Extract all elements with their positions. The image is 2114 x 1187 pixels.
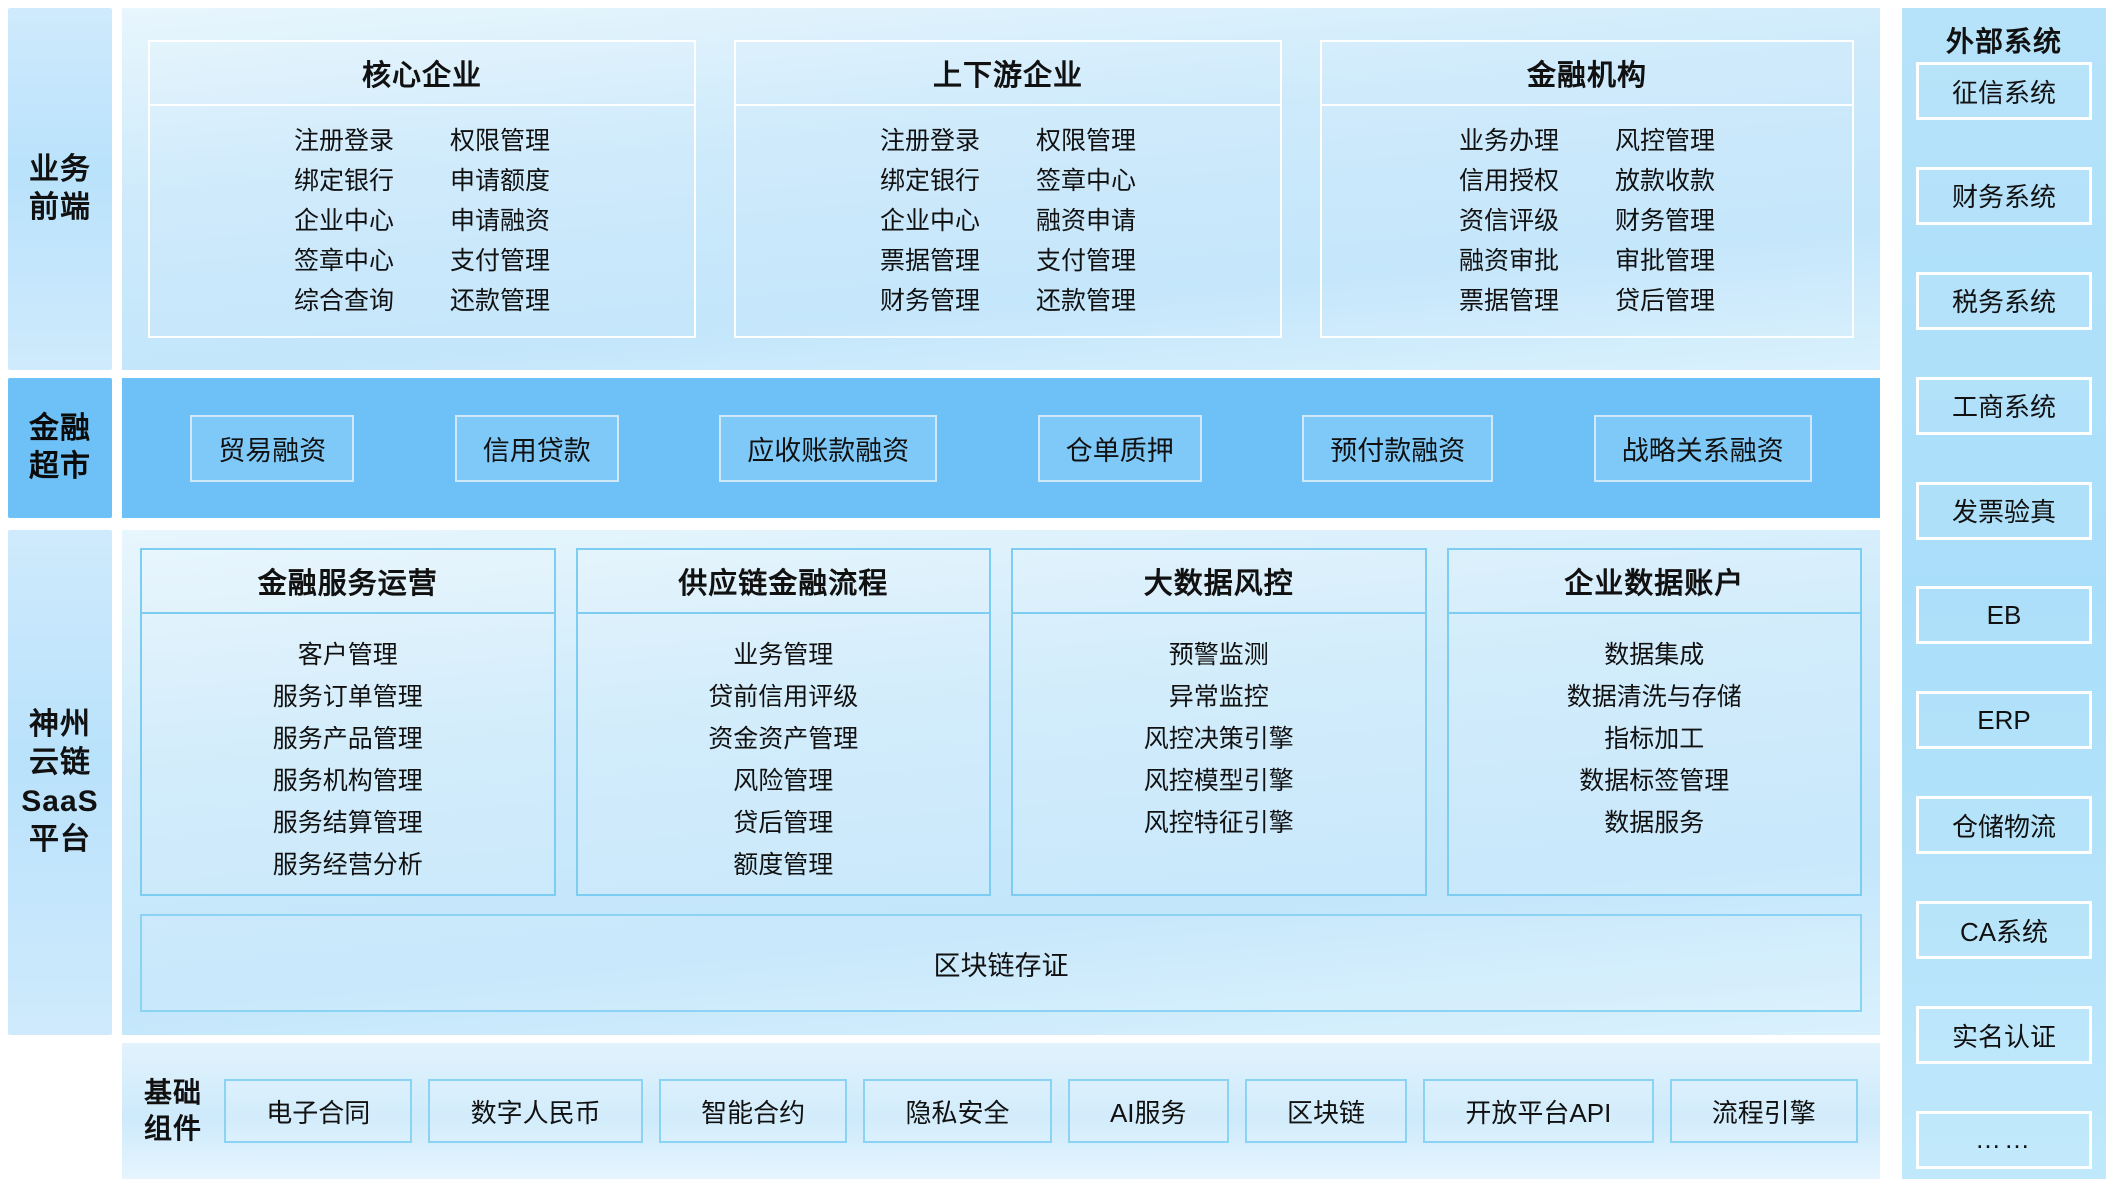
module-item: 服务经营分析 xyxy=(273,846,423,885)
card-column-right: 风控管理 放款收款 财务管理 审批管理 贷后管理 xyxy=(1615,122,1715,320)
feature-item: 签章中心 xyxy=(294,242,394,280)
card-column-left: 业务办理 信用授权 资信评级 融资审批 票据管理 xyxy=(1459,122,1559,320)
external-systems-title: 外部系统 xyxy=(1902,20,2106,60)
base-component-blockchain[interactable]: 区块链 xyxy=(1245,1079,1407,1143)
feature-item: 财务管理 xyxy=(880,282,980,320)
base-component-smart-contract[interactable]: 智能合约 xyxy=(659,1079,847,1143)
card-column-right: 权限管理 签章中心 融资申请 支付管理 还款管理 xyxy=(1036,122,1136,320)
module-title: 金融服务运营 xyxy=(142,550,554,614)
business-front-panel: 核心企业 注册登录 绑定银行 企业中心 签章中心 综合查询 权限管理 申请额度 … xyxy=(122,8,1880,370)
feature-item: 财务管理 xyxy=(1615,202,1715,240)
layer-label-base-components: 基础 组件 xyxy=(144,1075,202,1147)
module-item: 数据清洗与存储 xyxy=(1567,678,1742,717)
module-item: 数据集成 xyxy=(1604,636,1704,675)
feature-item: 权限管理 xyxy=(450,122,550,160)
feature-item: 签章中心 xyxy=(1036,162,1136,200)
external-system-more[interactable]: …… xyxy=(1916,1111,2092,1169)
feature-item: 还款管理 xyxy=(1036,282,1136,320)
feature-item: 信用授权 xyxy=(1459,162,1559,200)
business-front-card-upstream-downstream: 上下游企业 注册登录 绑定银行 企业中心 票据管理 财务管理 权限管理 签章中心… xyxy=(734,40,1282,338)
finance-product-receivables-financing[interactable]: 应收账款融资 xyxy=(719,415,937,482)
business-front-card-financial-institution: 金融机构 业务办理 信用授权 资信评级 融资审批 票据管理 风控管理 放款收款 … xyxy=(1320,40,1854,338)
architecture-diagram: 业务 前端 金融 超市 神州 云链 SaaS 平台 核心企业 注册登录 绑定银行… xyxy=(0,0,2114,1187)
base-component-privacy-security[interactable]: 隐私安全 xyxy=(863,1079,1051,1143)
layer-label-finance-mall: 金融 超市 xyxy=(8,378,112,518)
base-components-panel: 基础 组件 电子合同 数字人民币 智能合约 隐私安全 AI服务 区块链 开放平台… xyxy=(122,1043,1880,1179)
card-title: 上下游企业 xyxy=(736,42,1280,106)
feature-item: 注册登录 xyxy=(294,122,394,160)
external-system-credit-reporting[interactable]: 征信系统 xyxy=(1916,62,2092,120)
module-item: 异常监控 xyxy=(1169,678,1269,717)
card-columns: 业务办理 信用授权 资信评级 融资审批 票据管理 风控管理 放款收款 财务管理 … xyxy=(1322,106,1852,320)
external-system-ca[interactable]: CA系统 xyxy=(1916,901,2092,959)
external-systems-list: 征信系统 财务系统 税务系统 工商系统 发票验真 EB ERP 仓储物流 CA系… xyxy=(1916,62,2092,1169)
finance-mall-panel: 贸易融资 信用贷款 应收账款融资 仓单质押 预付款融资 战略关系融资 xyxy=(122,378,1880,518)
external-system-warehouse-logistics[interactable]: 仓储物流 xyxy=(1916,796,2092,854)
module-item: 风险管理 xyxy=(733,762,833,801)
feature-item: 放款收款 xyxy=(1615,162,1715,200)
module-title: 企业数据账户 xyxy=(1449,550,1861,614)
feature-item: 绑定银行 xyxy=(294,162,394,200)
feature-item: 支付管理 xyxy=(1036,242,1136,280)
module-item: 服务机构管理 xyxy=(273,762,423,801)
module-item: 资金资产管理 xyxy=(708,720,858,759)
module-item: 服务结算管理 xyxy=(273,804,423,843)
external-system-invoice-verification[interactable]: 发票验真 xyxy=(1916,482,2092,540)
finance-mall-chip-row: 贸易融资 信用贷款 应收账款融资 仓单质押 预付款融资 战略关系融资 xyxy=(122,378,1880,518)
finance-product-trade-financing[interactable]: 贸易融资 xyxy=(190,415,354,482)
feature-item: 企业中心 xyxy=(880,202,980,240)
module-title: 大数据风控 xyxy=(1013,550,1425,614)
feature-item: 支付管理 xyxy=(450,242,550,280)
base-component-digital-rmb[interactable]: 数字人民币 xyxy=(428,1079,642,1143)
module-title: 供应链金融流程 xyxy=(578,550,990,614)
business-front-card-core-enterprise: 核心企业 注册登录 绑定银行 企业中心 签章中心 综合查询 权限管理 申请额度 … xyxy=(148,40,696,338)
card-column-left: 注册登录 绑定银行 企业中心 签章中心 综合查询 xyxy=(294,122,394,320)
finance-product-warehouse-receipt-pledge[interactable]: 仓单质押 xyxy=(1038,415,1202,482)
module-items: 预警监测 异常监控 风控决策引擎 风控模型引擎 风控特征引擎 xyxy=(1013,614,1425,894)
feature-item: 融资申请 xyxy=(1036,202,1136,240)
feature-item: 融资审批 xyxy=(1459,242,1559,280)
card-column-left: 注册登录 绑定银行 企业中心 票据管理 财务管理 xyxy=(880,122,980,320)
feature-item: 绑定银行 xyxy=(880,162,980,200)
external-system-erp[interactable]: ERP xyxy=(1916,691,2092,749)
module-item: 风控模型引擎 xyxy=(1144,762,1294,801)
external-system-real-name-auth[interactable]: 实名认证 xyxy=(1916,1006,2092,1064)
module-item: 服务产品管理 xyxy=(273,720,423,759)
module-items: 业务管理 贷前信用评级 资金资产管理 风险管理 贷后管理 额度管理 xyxy=(578,614,990,894)
base-component-open-platform-api[interactable]: 开放平台API xyxy=(1423,1079,1653,1143)
feature-item: 票据管理 xyxy=(880,242,980,280)
external-system-tax[interactable]: 税务系统 xyxy=(1916,272,2092,330)
feature-item: 贷后管理 xyxy=(1615,282,1715,320)
module-item: 服务订单管理 xyxy=(273,678,423,717)
card-title: 核心企业 xyxy=(150,42,694,106)
finance-product-credit-loan[interactable]: 信用贷款 xyxy=(455,415,619,482)
module-item: 指标加工 xyxy=(1604,720,1704,759)
feature-item: 综合查询 xyxy=(294,282,394,320)
card-columns: 注册登录 绑定银行 企业中心 签章中心 综合查询 权限管理 申请额度 申请融资 … xyxy=(150,106,694,320)
external-system-business-registration[interactable]: 工商系统 xyxy=(1916,377,2092,435)
module-item: 贷后管理 xyxy=(733,804,833,843)
module-item: 客户管理 xyxy=(298,636,398,675)
module-items: 客户管理 服务订单管理 服务产品管理 服务机构管理 服务结算管理 服务经营分析 xyxy=(142,614,554,894)
feature-item: 票据管理 xyxy=(1459,282,1559,320)
base-component-process-engine[interactable]: 流程引擎 xyxy=(1670,1079,1858,1143)
layer-label-saas-platform-text: 神州 云链 SaaS 平台 xyxy=(21,706,98,860)
layer-label-finance-mall-text: 金融 超市 xyxy=(29,410,91,487)
module-item: 数据服务 xyxy=(1604,804,1704,843)
feature-item: 申请融资 xyxy=(450,202,550,240)
module-item: 数据标签管理 xyxy=(1579,762,1729,801)
saas-module-row: 金融服务运营 客户管理 服务订单管理 服务产品管理 服务机构管理 服务结算管理 … xyxy=(140,548,1862,896)
saas-module-enterprise-data-account: 企业数据账户 数据集成 数据清洗与存储 指标加工 数据标签管理 数据服务 xyxy=(1447,548,1863,896)
feature-item: 审批管理 xyxy=(1615,242,1715,280)
external-systems-panel: 外部系统 征信系统 财务系统 税务系统 工商系统 发票验真 EB ERP 仓储物… xyxy=(1902,8,2106,1179)
card-title: 金融机构 xyxy=(1322,42,1852,106)
feature-item: 权限管理 xyxy=(1036,122,1136,160)
saas-module-supply-chain-finance-process: 供应链金融流程 业务管理 贷前信用评级 资金资产管理 风险管理 贷后管理 额度管… xyxy=(576,548,992,896)
card-column-right: 权限管理 申请额度 申请融资 支付管理 还款管理 xyxy=(450,122,550,320)
feature-item: 业务办理 xyxy=(1459,122,1559,160)
feature-item: 还款管理 xyxy=(450,282,550,320)
base-components-row: 基础 组件 电子合同 数字人民币 智能合约 隐私安全 AI服务 区块链 开放平台… xyxy=(122,1043,1880,1179)
finance-product-prepayment-financing[interactable]: 预付款融资 xyxy=(1302,415,1493,482)
module-item: 贷前信用评级 xyxy=(708,678,858,717)
saas-module-financial-service-operation: 金融服务运营 客户管理 服务订单管理 服务产品管理 服务机构管理 服务结算管理 … xyxy=(140,548,556,896)
module-item: 额度管理 xyxy=(733,846,833,885)
layer-label-business-front: 业务 前端 xyxy=(8,8,112,370)
feature-item: 申请额度 xyxy=(450,162,550,200)
saas-platform-panel: 金融服务运营 客户管理 服务订单管理 服务产品管理 服务机构管理 服务结算管理 … xyxy=(122,530,1880,1035)
external-system-eb[interactable]: EB xyxy=(1916,586,2092,644)
blockchain-evidence-strip: 区块链存证 xyxy=(140,914,1862,1012)
module-item: 预警监测 xyxy=(1169,636,1269,675)
layer-label-saas-platform: 神州 云链 SaaS 平台 xyxy=(8,530,112,1035)
layer-label-business-front-text: 业务 前端 xyxy=(29,151,91,228)
feature-item: 企业中心 xyxy=(294,202,394,240)
feature-item: 注册登录 xyxy=(880,122,980,160)
finance-product-strategic-relation-financing[interactable]: 战略关系融资 xyxy=(1594,415,1812,482)
base-component-ai-service[interactable]: AI服务 xyxy=(1068,1079,1229,1143)
module-items: 数据集成 数据清洗与存储 指标加工 数据标签管理 数据服务 xyxy=(1449,614,1861,894)
feature-item: 风控管理 xyxy=(1615,122,1715,160)
feature-item: 资信评级 xyxy=(1459,202,1559,240)
module-item: 风控决策引擎 xyxy=(1144,720,1294,759)
external-system-finance[interactable]: 财务系统 xyxy=(1916,167,2092,225)
card-columns: 注册登录 绑定银行 企业中心 票据管理 财务管理 权限管理 签章中心 融资申请 … xyxy=(736,106,1280,320)
saas-module-big-data-risk-control: 大数据风控 预警监测 异常监控 风控决策引擎 风控模型引擎 风控特征引擎 xyxy=(1011,548,1427,896)
base-component-electronic-contract[interactable]: 电子合同 xyxy=(224,1079,412,1143)
module-item: 风控特征引擎 xyxy=(1144,804,1294,843)
module-item: 业务管理 xyxy=(733,636,833,675)
